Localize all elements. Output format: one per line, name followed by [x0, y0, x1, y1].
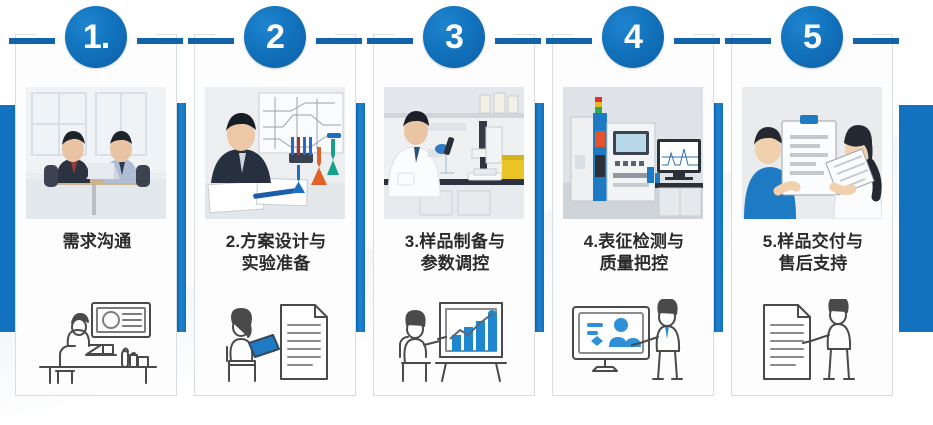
step-card-2[interactable]: 2.方案设计与 实验准备 — [194, 34, 356, 396]
card-separator-1 — [177, 103, 186, 332]
process-flow-strip: 需求沟通 — [0, 0, 933, 425]
step-badge-group-2: 2 — [180, 0, 370, 72]
step-label-4: 4.表征检测与 质量把控 — [559, 231, 709, 276]
step-label-1: 需求沟通 — [22, 231, 172, 253]
step-number-badge-5: 5 — [781, 6, 843, 68]
photo-scheme-design-lab-flasks — [205, 87, 345, 219]
step-label-3: 3.样品制备与 参数调控 — [380, 231, 530, 276]
step-label-line2: 实验准备 — [242, 254, 311, 273]
step-label-line2: 质量把控 — [600, 254, 669, 273]
person-with-tablet-and-document-icon — [209, 299, 341, 385]
connector-right-2 — [316, 38, 362, 44]
card-separator-3 — [535, 103, 544, 332]
connector-right-5 — [853, 38, 899, 44]
step-number-badge-4: 4 — [602, 6, 664, 68]
step-card-3[interactable]: 3.样品制备与 参数调控 — [373, 34, 535, 396]
step-label-line2: 售后支持 — [779, 254, 848, 273]
step-number-badge-3: 3 — [423, 6, 485, 68]
step-label-5: 5.样品交付与 售后支持 — [738, 231, 888, 276]
step-label-line1: 3.样品制备与 — [405, 232, 506, 251]
photo-characterization-instrument — [563, 87, 703, 219]
step-label-line1: 5.样品交付与 — [763, 232, 864, 251]
photo-sample-delivery-handover — [742, 87, 882, 219]
step-label-line2: 参数调控 — [421, 254, 490, 273]
step-number-badge-1: 1. — [65, 6, 127, 68]
step-number-badge-2: 2 — [244, 6, 306, 68]
connector-right-3 — [495, 38, 541, 44]
connector-left-5 — [725, 38, 771, 44]
connector-right-1 — [137, 38, 183, 44]
step-card-1[interactable]: 需求沟通 — [15, 34, 177, 396]
connector-left-2 — [188, 38, 234, 44]
person-presenting-bar-chart-icon — [388, 299, 520, 385]
step-card-4[interactable]: 4.表征检测与 质量把控 — [552, 34, 714, 396]
step-label-2: 2.方案设计与 实验准备 — [201, 231, 351, 276]
person-at-desk-with-laptop-and-presentation-board-icon — [30, 299, 162, 385]
photo-sample-preparation-microscope — [384, 87, 524, 219]
card-separator-4 — [714, 103, 723, 332]
step-label-line1: 2.方案设计与 — [226, 232, 327, 251]
step-badge-group-5: 5 — [717, 0, 907, 72]
step-badge-group-1: 1. — [1, 0, 191, 72]
connector-right-4 — [674, 38, 720, 44]
person-presenting-monitor-dashboard-icon — [567, 299, 699, 385]
person-reviewing-document-icon — [746, 299, 878, 385]
connector-left-4 — [546, 38, 592, 44]
step-card-5[interactable]: 5.样品交付与 售后支持 — [731, 34, 893, 396]
card-separator-2 — [356, 103, 365, 332]
connector-left-1 — [9, 38, 55, 44]
step-label-line1: 4.表征检测与 — [584, 232, 685, 251]
step-badge-group-3: 3 — [359, 0, 549, 72]
step-badge-group-4: 4 — [538, 0, 728, 72]
connector-left-3 — [367, 38, 413, 44]
photo-requirement-meeting — [26, 87, 166, 219]
